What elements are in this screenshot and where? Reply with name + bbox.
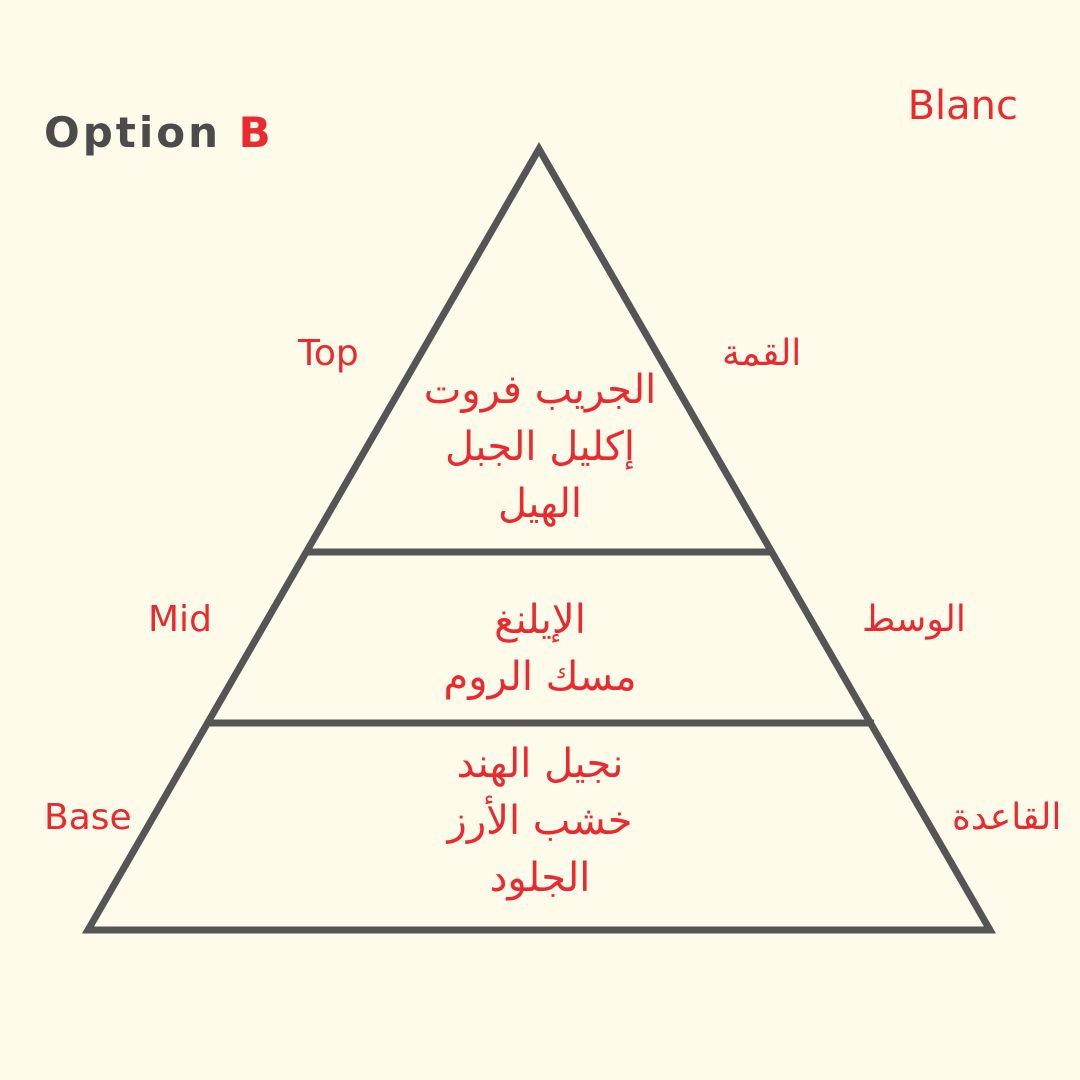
tier-notes-mid: الإيلنغ مسك الروم bbox=[444, 592, 637, 706]
option-title-letter: B bbox=[239, 108, 274, 157]
tier-notes-top: الجريب فروت إكليل الجبل الهيل bbox=[424, 362, 656, 532]
tier-label-base-en: Base bbox=[44, 800, 132, 836]
note-item: الجريب فروت bbox=[424, 362, 656, 419]
note-item: خشب الأرز bbox=[448, 793, 633, 850]
option-title: Option B bbox=[44, 112, 274, 154]
note-item: الإيلنغ bbox=[444, 592, 637, 649]
note-item: نجيل الهند bbox=[448, 736, 633, 793]
tier-label-top-ar: القمة bbox=[722, 336, 801, 372]
tier-label-top-en: Top bbox=[298, 336, 359, 372]
tier-label-mid-en: Mid bbox=[148, 602, 212, 638]
pyramid-canvas: Option B Blanc Top القمة Mid الوسط Base … bbox=[0, 0, 1080, 1080]
tier-notes-base: نجيل الهند خشب الأرز الجلود bbox=[448, 736, 633, 906]
note-item: مسك الروم bbox=[444, 649, 637, 706]
note-item: إكليل الجبل bbox=[424, 419, 656, 476]
brand-label: Blanc bbox=[908, 86, 1018, 126]
option-title-word: Option bbox=[44, 108, 221, 157]
tier-label-mid-ar: الوسط bbox=[862, 602, 966, 638]
tier-label-base-ar: القاعدة bbox=[952, 800, 1061, 836]
note-item: الهيل bbox=[424, 476, 656, 533]
fragrance-pyramid-shape bbox=[0, 0, 1080, 1080]
note-item: الجلود bbox=[448, 850, 633, 907]
